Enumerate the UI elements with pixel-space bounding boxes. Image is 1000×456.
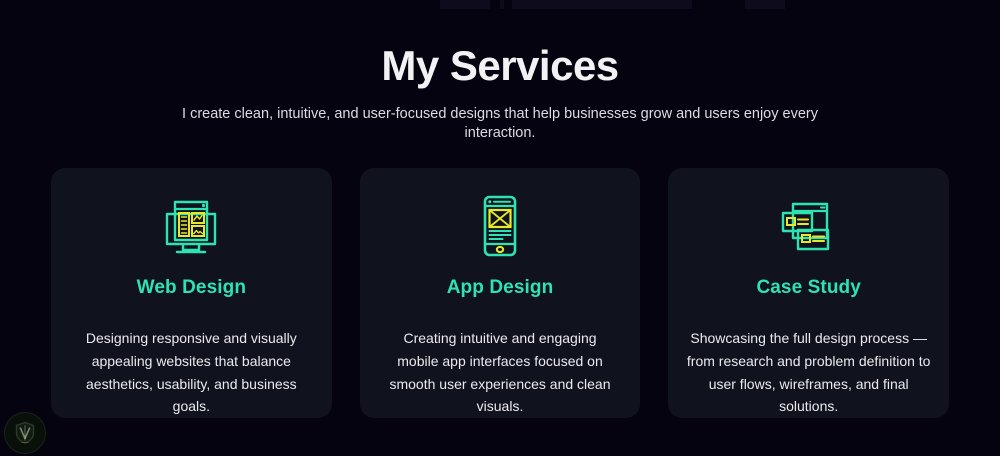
service-card-case-study[interactable]: Case Study Showcasing the full design pr… xyxy=(668,168,949,418)
service-card-web-design[interactable]: Web Design Designing responsive and visu… xyxy=(51,168,332,418)
service-card-title: Case Study xyxy=(756,277,860,299)
page-title: My Services xyxy=(0,42,1000,90)
service-card-description: Designing responsive and visually appeal… xyxy=(67,327,316,418)
service-card-title: Web Design xyxy=(137,277,246,299)
service-card-description: Showcasing the full design process — fro… xyxy=(684,327,933,418)
page-subtitle: I create clean, intuitive, and user-focu… xyxy=(0,105,1000,143)
service-card-description: Creating intuitive and engaging mobile a… xyxy=(376,327,625,418)
smartphone-app-wireframe-icon xyxy=(468,192,532,259)
service-card-list: Web Design Designing responsive and visu… xyxy=(51,168,949,418)
service-card-app-design[interactable]: App Design Creating intuitive and engagi… xyxy=(360,168,641,418)
shield-v-logo-icon xyxy=(4,412,46,454)
stacked-case-study-cards-icon xyxy=(777,192,841,264)
services-section: My Services I create clean, intuitive, a… xyxy=(0,0,1000,456)
service-card-title: App Design xyxy=(447,277,554,299)
desktop-monitor-wireframe-icon xyxy=(159,192,223,259)
